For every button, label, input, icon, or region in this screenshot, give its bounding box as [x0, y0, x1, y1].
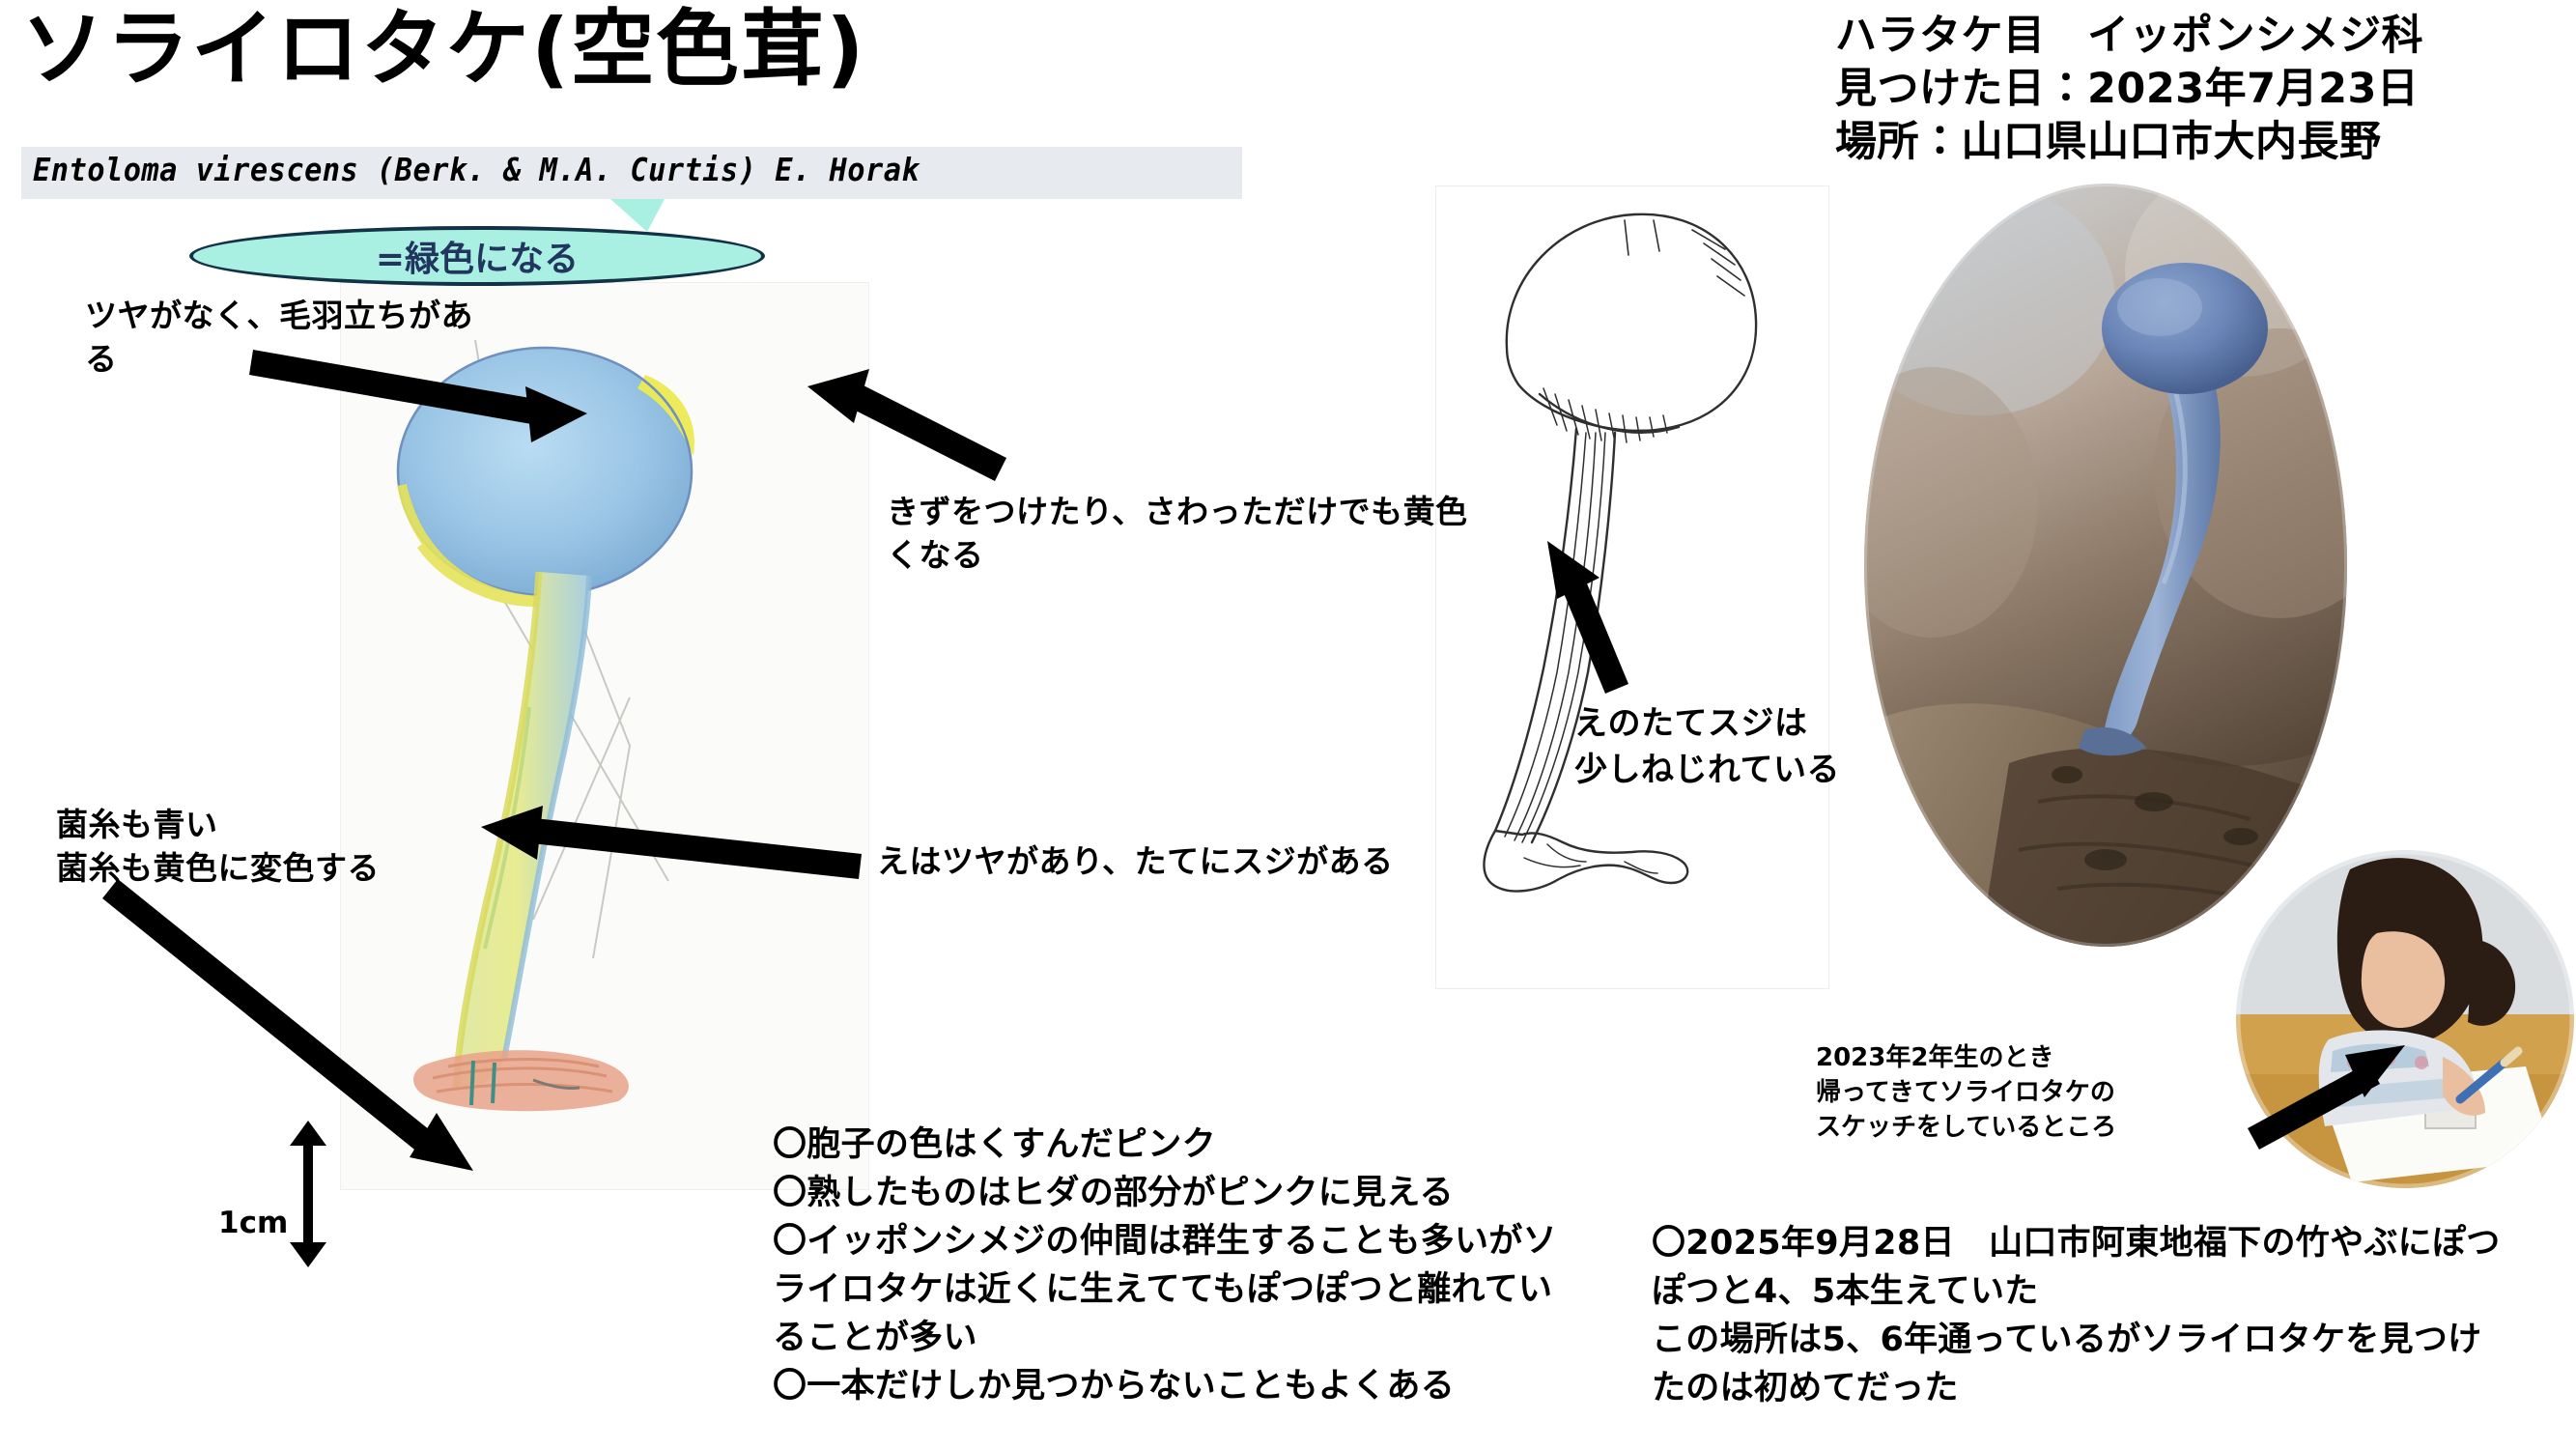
arrow-to-cap-icon: [249, 350, 587, 442]
arrow-to-cap-right-icon: [807, 369, 1006, 481]
scale-bar-icon: [286, 1121, 330, 1267]
arrow-to-striation-icon: [1547, 541, 1628, 694]
notes-right-block: 〇2025年9月28日 山口市阿東地福下の竹やぶにぽつぽつと4、5本生えていた …: [1652, 1219, 2502, 1412]
arrow-to-stipe-icon: [481, 806, 862, 879]
arrow-to-child-photo-icon: [2248, 1045, 2405, 1150]
notes-left-block: 〇胞子の色はくすんだピンク 〇熟したものはヒダの部分がピンクに見える 〇イッポン…: [773, 1121, 1584, 1410]
scale-bar-label: 1cm: [218, 1206, 288, 1240]
